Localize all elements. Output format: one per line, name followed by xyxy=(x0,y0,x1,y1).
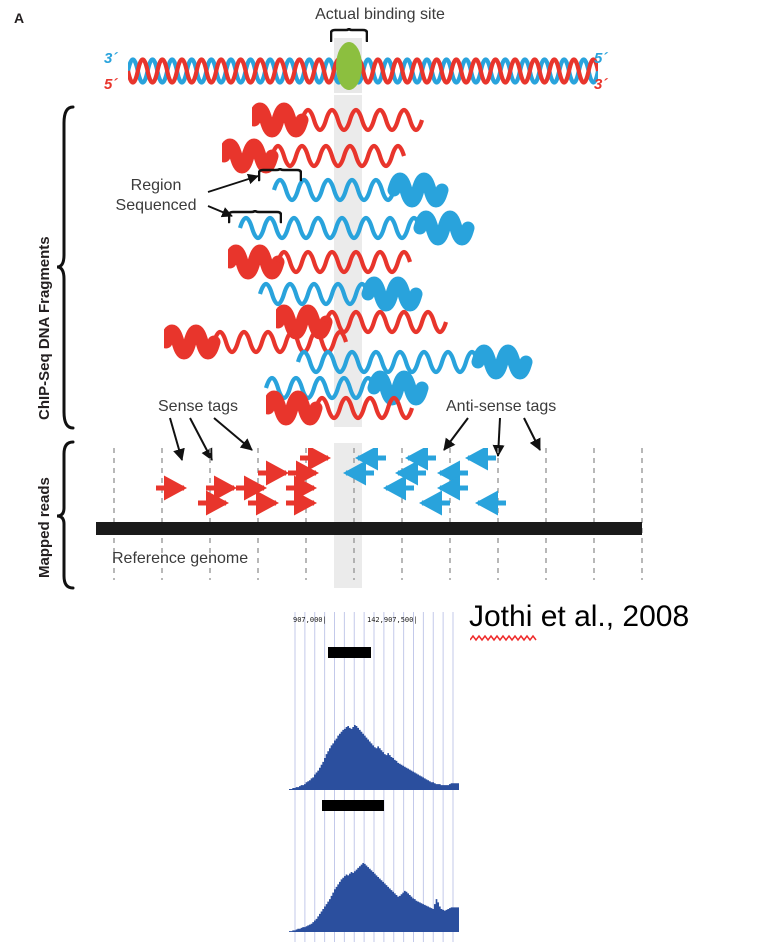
sense-tags-label: Sense tags xyxy=(158,398,238,416)
sense-read-arrows xyxy=(156,458,328,503)
reference-genome-bar xyxy=(96,522,642,535)
reference-genome-label: Reference genome xyxy=(112,550,248,568)
binding-site-caption: Actual binding site xyxy=(255,6,505,24)
dna-label-5prime-left: 5´ xyxy=(104,76,117,93)
region-sequenced-bracket-1-icon xyxy=(258,168,302,182)
read-density-histogram-1 xyxy=(289,722,459,790)
region-sequenced-line2: Sequenced xyxy=(96,196,216,216)
dna-label-3prime-left: 3´ xyxy=(104,50,117,67)
chipseq-figure: A Actual binding site 3´ 5´ 5´ 3´ ChIP-S… xyxy=(0,0,762,952)
dna-label-3prime-right: 3´ xyxy=(594,76,607,93)
spellcheck-squiggle-icon xyxy=(470,634,550,642)
bound-protein-ellipse xyxy=(336,42,362,90)
genome-browser-panel[interactable]: 907,000| 142,907,500| xyxy=(289,612,459,942)
coordinate-label-left: 907,000| xyxy=(293,616,327,624)
mapped-reads-arrows xyxy=(96,448,656,528)
dna-label-5prime-right: 5´ xyxy=(594,50,607,67)
mapped-reads-section-brace-icon xyxy=(56,440,76,590)
citation: Jothi et al., 2008 xyxy=(469,600,689,634)
citation-author: Jothi xyxy=(469,600,532,635)
antisense-tags-label: Anti-sense tags xyxy=(446,398,556,416)
region-sequenced-line1: Region xyxy=(96,176,216,196)
antisense-read-arrows xyxy=(346,458,506,503)
read-density-histogram-2 xyxy=(289,860,459,932)
binding-site-bracket-icon xyxy=(330,28,368,42)
peak-region-bar-2 xyxy=(322,800,384,811)
mapped-reads-section-label: Mapped reads xyxy=(36,477,53,578)
dna-double-helix xyxy=(128,46,598,96)
chipseq-section-label: ChIP-Seq DNA Fragments xyxy=(36,236,53,420)
region-sequenced-label: Region Sequenced xyxy=(96,176,216,216)
peak-region-bar-1 xyxy=(328,647,371,658)
region-sequenced-bracket-2-icon xyxy=(228,210,282,224)
citation-rest: et al., 2008 xyxy=(532,600,689,633)
coordinate-label-right: 142,907,500| xyxy=(367,616,418,624)
panel-letter: A xyxy=(14,10,25,26)
chipseq-section-brace-icon xyxy=(56,105,76,430)
